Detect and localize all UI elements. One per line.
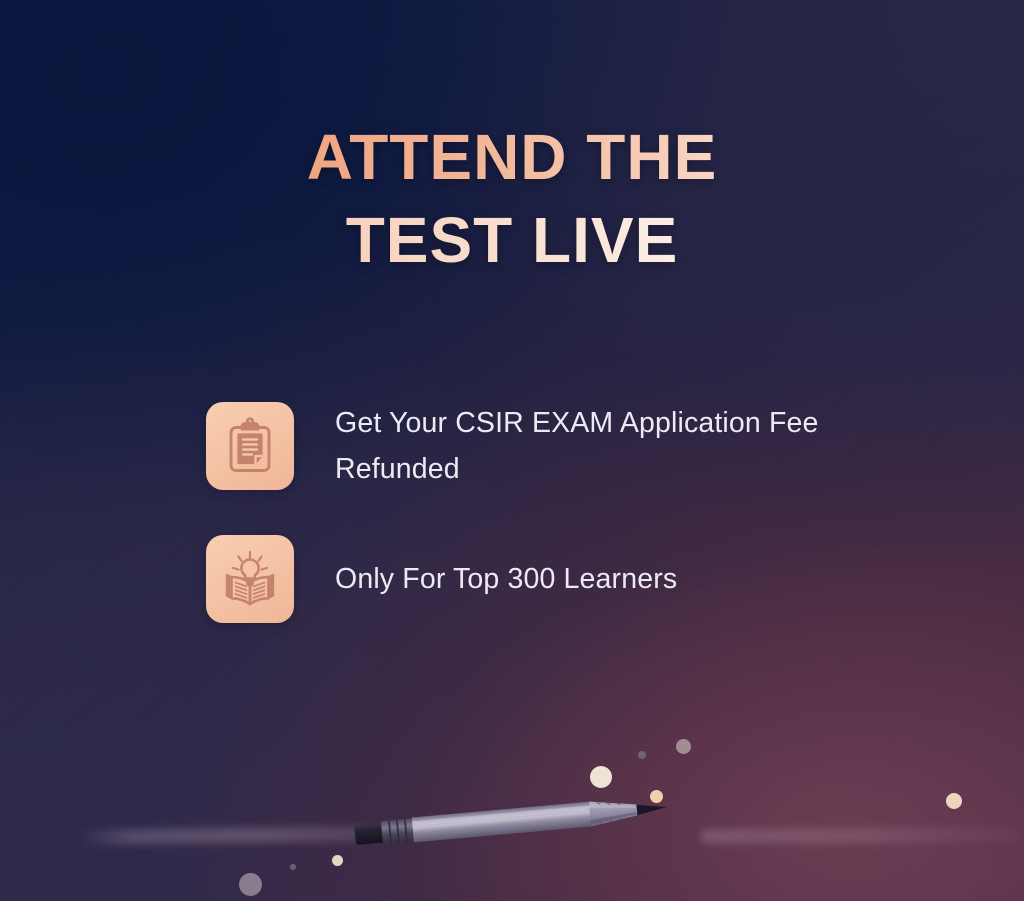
headline-block: ATTEND THE TEST LIVE (0, 116, 1024, 282)
feature-text-refund: Get Your CSIR EXAM Application Fee Refun… (335, 400, 855, 493)
feature-row-refund: Get Your CSIR EXAM Application Fee Refun… (206, 400, 855, 493)
open-book-lightbulb-icon-tile (206, 535, 294, 623)
open-book-lightbulb-icon (221, 551, 279, 607)
headline-line-2: TEST LIVE (40, 199, 984, 282)
feature-list: Get Your CSIR EXAM Application Fee Refun… (206, 400, 855, 623)
feature-text-top300: Only For Top 300 Learners (335, 556, 677, 602)
promo-poster: ATTEND THE TEST LIVE (0, 0, 1024, 901)
feature-row-top300: Only For Top 300 Learners (206, 535, 855, 623)
headline-line-1: ATTEND THE (40, 116, 984, 199)
clipboard-document-icon (224, 417, 276, 475)
clipboard-document-icon-tile (206, 402, 294, 490)
